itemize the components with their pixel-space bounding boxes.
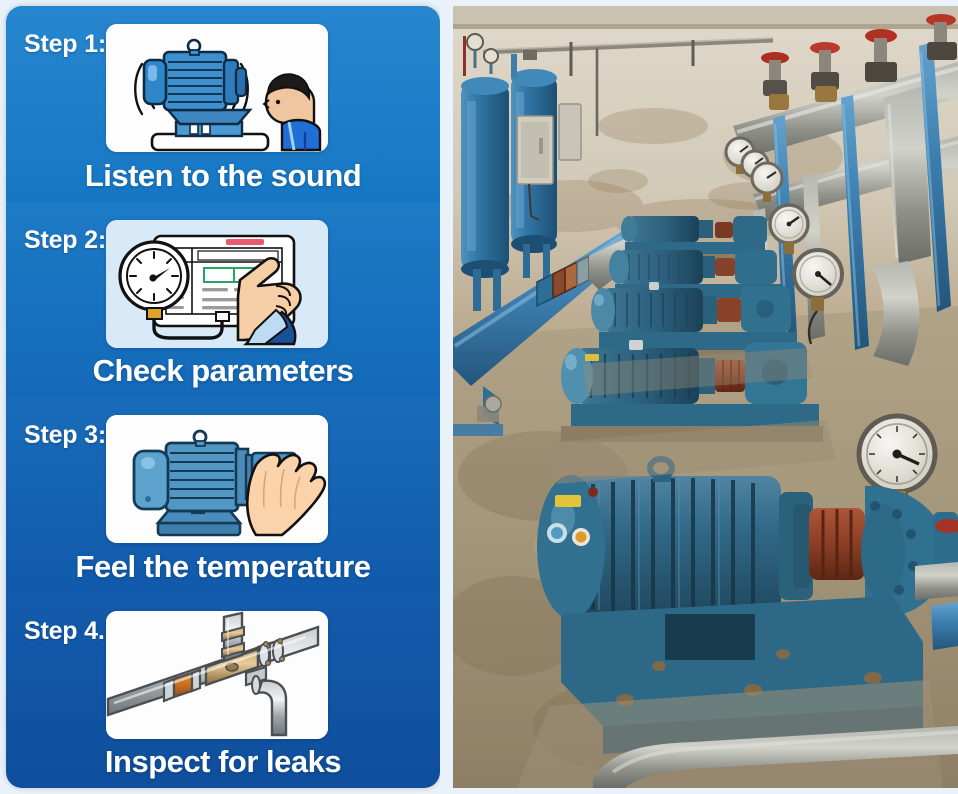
- pump-room-photograph: [453, 6, 958, 788]
- step-3-illustration: [106, 415, 328, 543]
- step-1-label: Step 1:: [24, 30, 106, 59]
- step-item-2[interactable]: Step 2: IIIi: [6, 202, 440, 398]
- step-3-caption: Feel the temperature: [6, 549, 440, 585]
- step-2-caption: Check parameters: [6, 353, 440, 389]
- motor-sound-listening-icon: [106, 24, 328, 152]
- step-4-illustration: [106, 611, 328, 739]
- motor-hand-temperature-icon: [106, 415, 328, 543]
- step-item-1[interactable]: Step 1:: [6, 6, 440, 202]
- step-4-caption: Inspect for leaks: [6, 744, 440, 780]
- step-item-4[interactable]: Step 4.: [6, 593, 440, 789]
- gauge-checklist-pointing-hand-icon: IIIi: [106, 220, 328, 348]
- step-4-label: Step 4.: [24, 617, 105, 646]
- step-1-illustration: [106, 24, 328, 152]
- steps-panel: Step 1:: [0, 0, 440, 794]
- step-2-illustration: IIIi: [106, 220, 328, 348]
- pipe-tee-fitting-leak-icon: [106, 611, 328, 739]
- pump-room-photo: [453, 6, 958, 788]
- infographic-page: Step 1:: [0, 0, 958, 794]
- photo-panel: [440, 0, 958, 794]
- step-item-3[interactable]: Step 3:: [6, 397, 440, 593]
- steps-panel-card: Step 1:: [6, 6, 440, 788]
- step-1-caption: Listen to the sound: [6, 158, 440, 194]
- step-3-label: Step 3:: [24, 421, 106, 450]
- step-2-label: Step 2:: [24, 226, 106, 255]
